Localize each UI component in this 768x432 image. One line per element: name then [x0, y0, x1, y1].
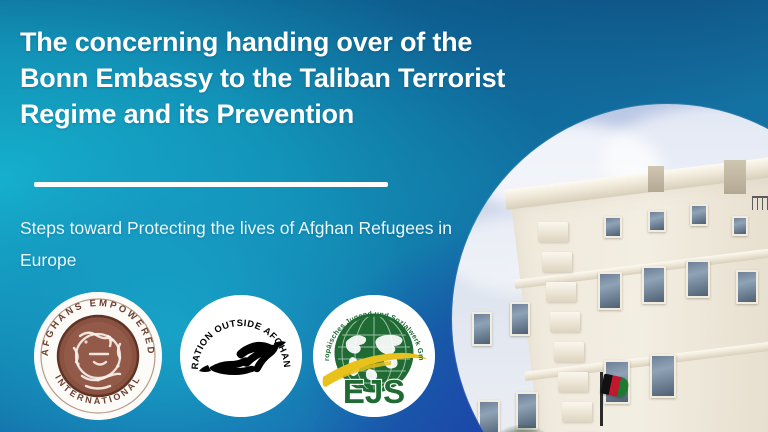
window [686, 260, 710, 298]
window [598, 272, 622, 310]
bonn-embassy-building-photo [452, 104, 768, 432]
window [604, 216, 622, 238]
quoin [558, 372, 588, 392]
generation-outside-afghanistan-icon: GENERATION OUTSIDE AFGHANISTAN [180, 295, 302, 417]
quoin [562, 402, 592, 422]
window [690, 204, 708, 226]
quoin [554, 342, 584, 362]
logo-ejs: EJS Europäisches Jugend und Sozialwerk G… [313, 295, 435, 417]
window [732, 216, 748, 236]
quoin [550, 312, 580, 332]
chimney [724, 160, 746, 194]
page-title: The concerning handing over of the Bonn … [20, 24, 540, 132]
ejs-wordmark: EJS [343, 373, 405, 410]
window [648, 210, 666, 232]
banner: The concerning handing over of the Bonn … [0, 0, 768, 432]
window [642, 266, 666, 304]
ejs-globe-icon: EJS Europäisches Jugend und Sozialwerk G… [313, 295, 435, 417]
quoin [542, 252, 572, 272]
chimney [648, 166, 664, 192]
quoin [546, 282, 576, 302]
window [510, 302, 530, 336]
logo-generation-outside-afghanistan: GENERATION OUTSIDE AFGHANISTAN [180, 295, 302, 417]
afghans-empowered-international-icon: AFGHANS EMPOWERED INTERNATIONAL [34, 292, 162, 420]
window [736, 270, 758, 304]
quoin [538, 222, 568, 242]
divider [34, 182, 388, 187]
window [650, 354, 676, 398]
roof-railing [752, 196, 768, 210]
window [478, 400, 500, 432]
window [472, 312, 492, 346]
logo-afghans-empowered-international: AFGHANS EMPOWERED INTERNATIONAL [34, 292, 162, 420]
page-subtitle: Steps toward Protecting the lives of Afg… [20, 212, 490, 276]
